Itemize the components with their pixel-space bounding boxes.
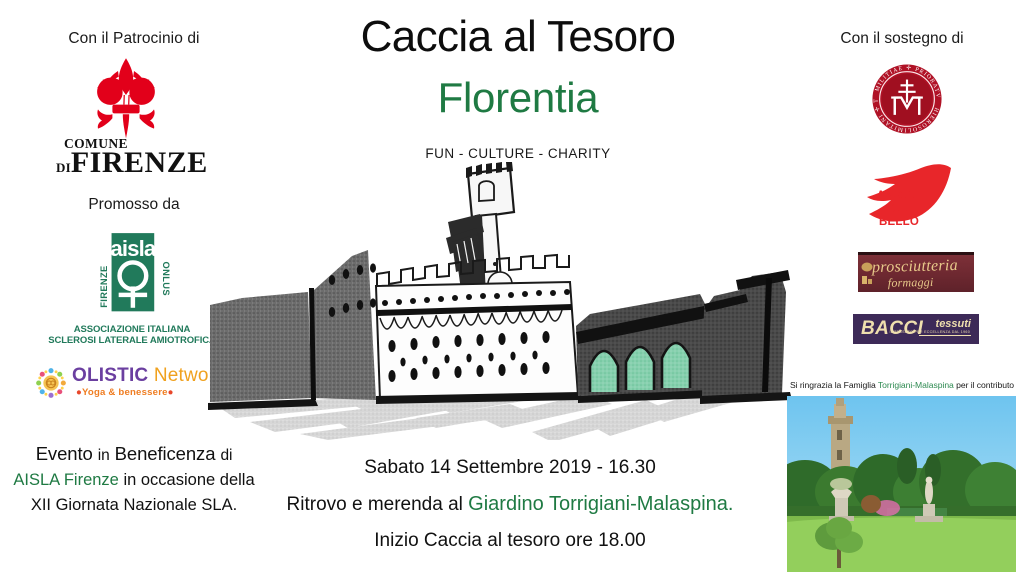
aisla-mark-icon: aisla FIRENZE ONLUS <box>92 228 172 320</box>
poster-title: Caccia al Tesoro <box>268 14 768 60</box>
beneficenza-line1: Evento in Beneficenza di <box>0 440 268 468</box>
palazzo-vecchio-sketch-illustration <box>180 160 800 440</box>
family-name-highlight: Torrigiani-Malaspina <box>878 380 954 390</box>
poster-canvas: Con il Patrocinio di <box>0 0 1024 576</box>
venue-highlight: Giardino Torrigiani-Malaspina. <box>468 493 733 515</box>
angeli-line1: ANGELI <box>865 190 933 203</box>
mandala-icon <box>34 366 68 400</box>
svg-text:ONLUS: ONLUS <box>161 262 171 296</box>
event-date-line: Sabato 14 Settembre 2019 - 16.30 <box>250 450 770 486</box>
beneficenza-block: Evento in Beneficenza di AISLA Firenze i… <box>0 440 268 519</box>
bacci-strapline: IL TESSUTO PER ECCELLENZA DAL 1960 <box>889 330 970 334</box>
prosciutteria-logo: prosciutteria formaggi d'autore <box>858 252 974 292</box>
bacci-wordmark: BACCI <box>861 318 923 340</box>
sostegno-label: Con il sostegno di <box>780 30 1024 48</box>
firenze-word: DIFIRENZE <box>56 149 196 178</box>
beneficenza-line3: XII Giornata Nazionale SLA. <box>0 493 268 519</box>
beneficenza-line2: AISLA Firenze in occasione della <box>0 468 268 494</box>
giardino-torrigiani-photo <box>787 396 1016 572</box>
event-start-line: Inizio Caccia al tesoro ore 18.00 <box>250 523 770 558</box>
angeli-del-bello-logo: ANGELI DEL BELLO <box>859 160 959 232</box>
olistic-tagline: ●Yoga & benessere● <box>76 387 174 398</box>
prosciutteria-line2: formaggi d'autore <box>888 274 974 292</box>
event-details-block: Sabato 14 Settembre 2019 - 16.30 Ritrovo… <box>250 450 770 558</box>
thanks-line: Si ringrazia la Famiglia Torrigiani-Mala… <box>780 380 1024 390</box>
angeli-line2: DEL <box>865 203 933 216</box>
templar-priory-seal-icon: MILITIAE ✛ PRIORATVS HIEROSOLIMITANI ✛ T… <box>871 63 943 135</box>
svg-text:FIRENZE: FIRENZE <box>99 265 109 307</box>
fleur-de-lis-icon <box>86 55 166 143</box>
comune-di-firenze-logo: COMUNE DIFIRENZE <box>56 55 196 175</box>
angeli-wordmark: ANGELI DEL BELLO <box>865 190 933 229</box>
angeli-line3: BELLO <box>865 216 933 229</box>
poster-subtitle: Florentia <box>268 76 768 120</box>
comune-wordmark: COMUNE DIFIRENZE <box>56 137 196 177</box>
poster-tagline: FUN - CULTURE - CHARITY <box>268 146 768 161</box>
event-meeting-line: Ritrovo e merenda al Giardino Torrigiani… <box>250 486 770 523</box>
olistic-word-a: OLISTIC <box>72 365 148 386</box>
bacci-tessuti-word: tessuti <box>936 318 971 330</box>
bacci-rule <box>919 335 971 336</box>
aisla-firenze-highlight: AISLA Firenze <box>13 471 118 489</box>
svg-text:aisla: aisla <box>110 236 157 261</box>
bacci-tessuti-logo: BACCI tessuti IL TESSUTO PER ECCELLENZA … <box>853 314 979 344</box>
patrocinio-label: Con il Patrocinio di <box>0 30 268 48</box>
